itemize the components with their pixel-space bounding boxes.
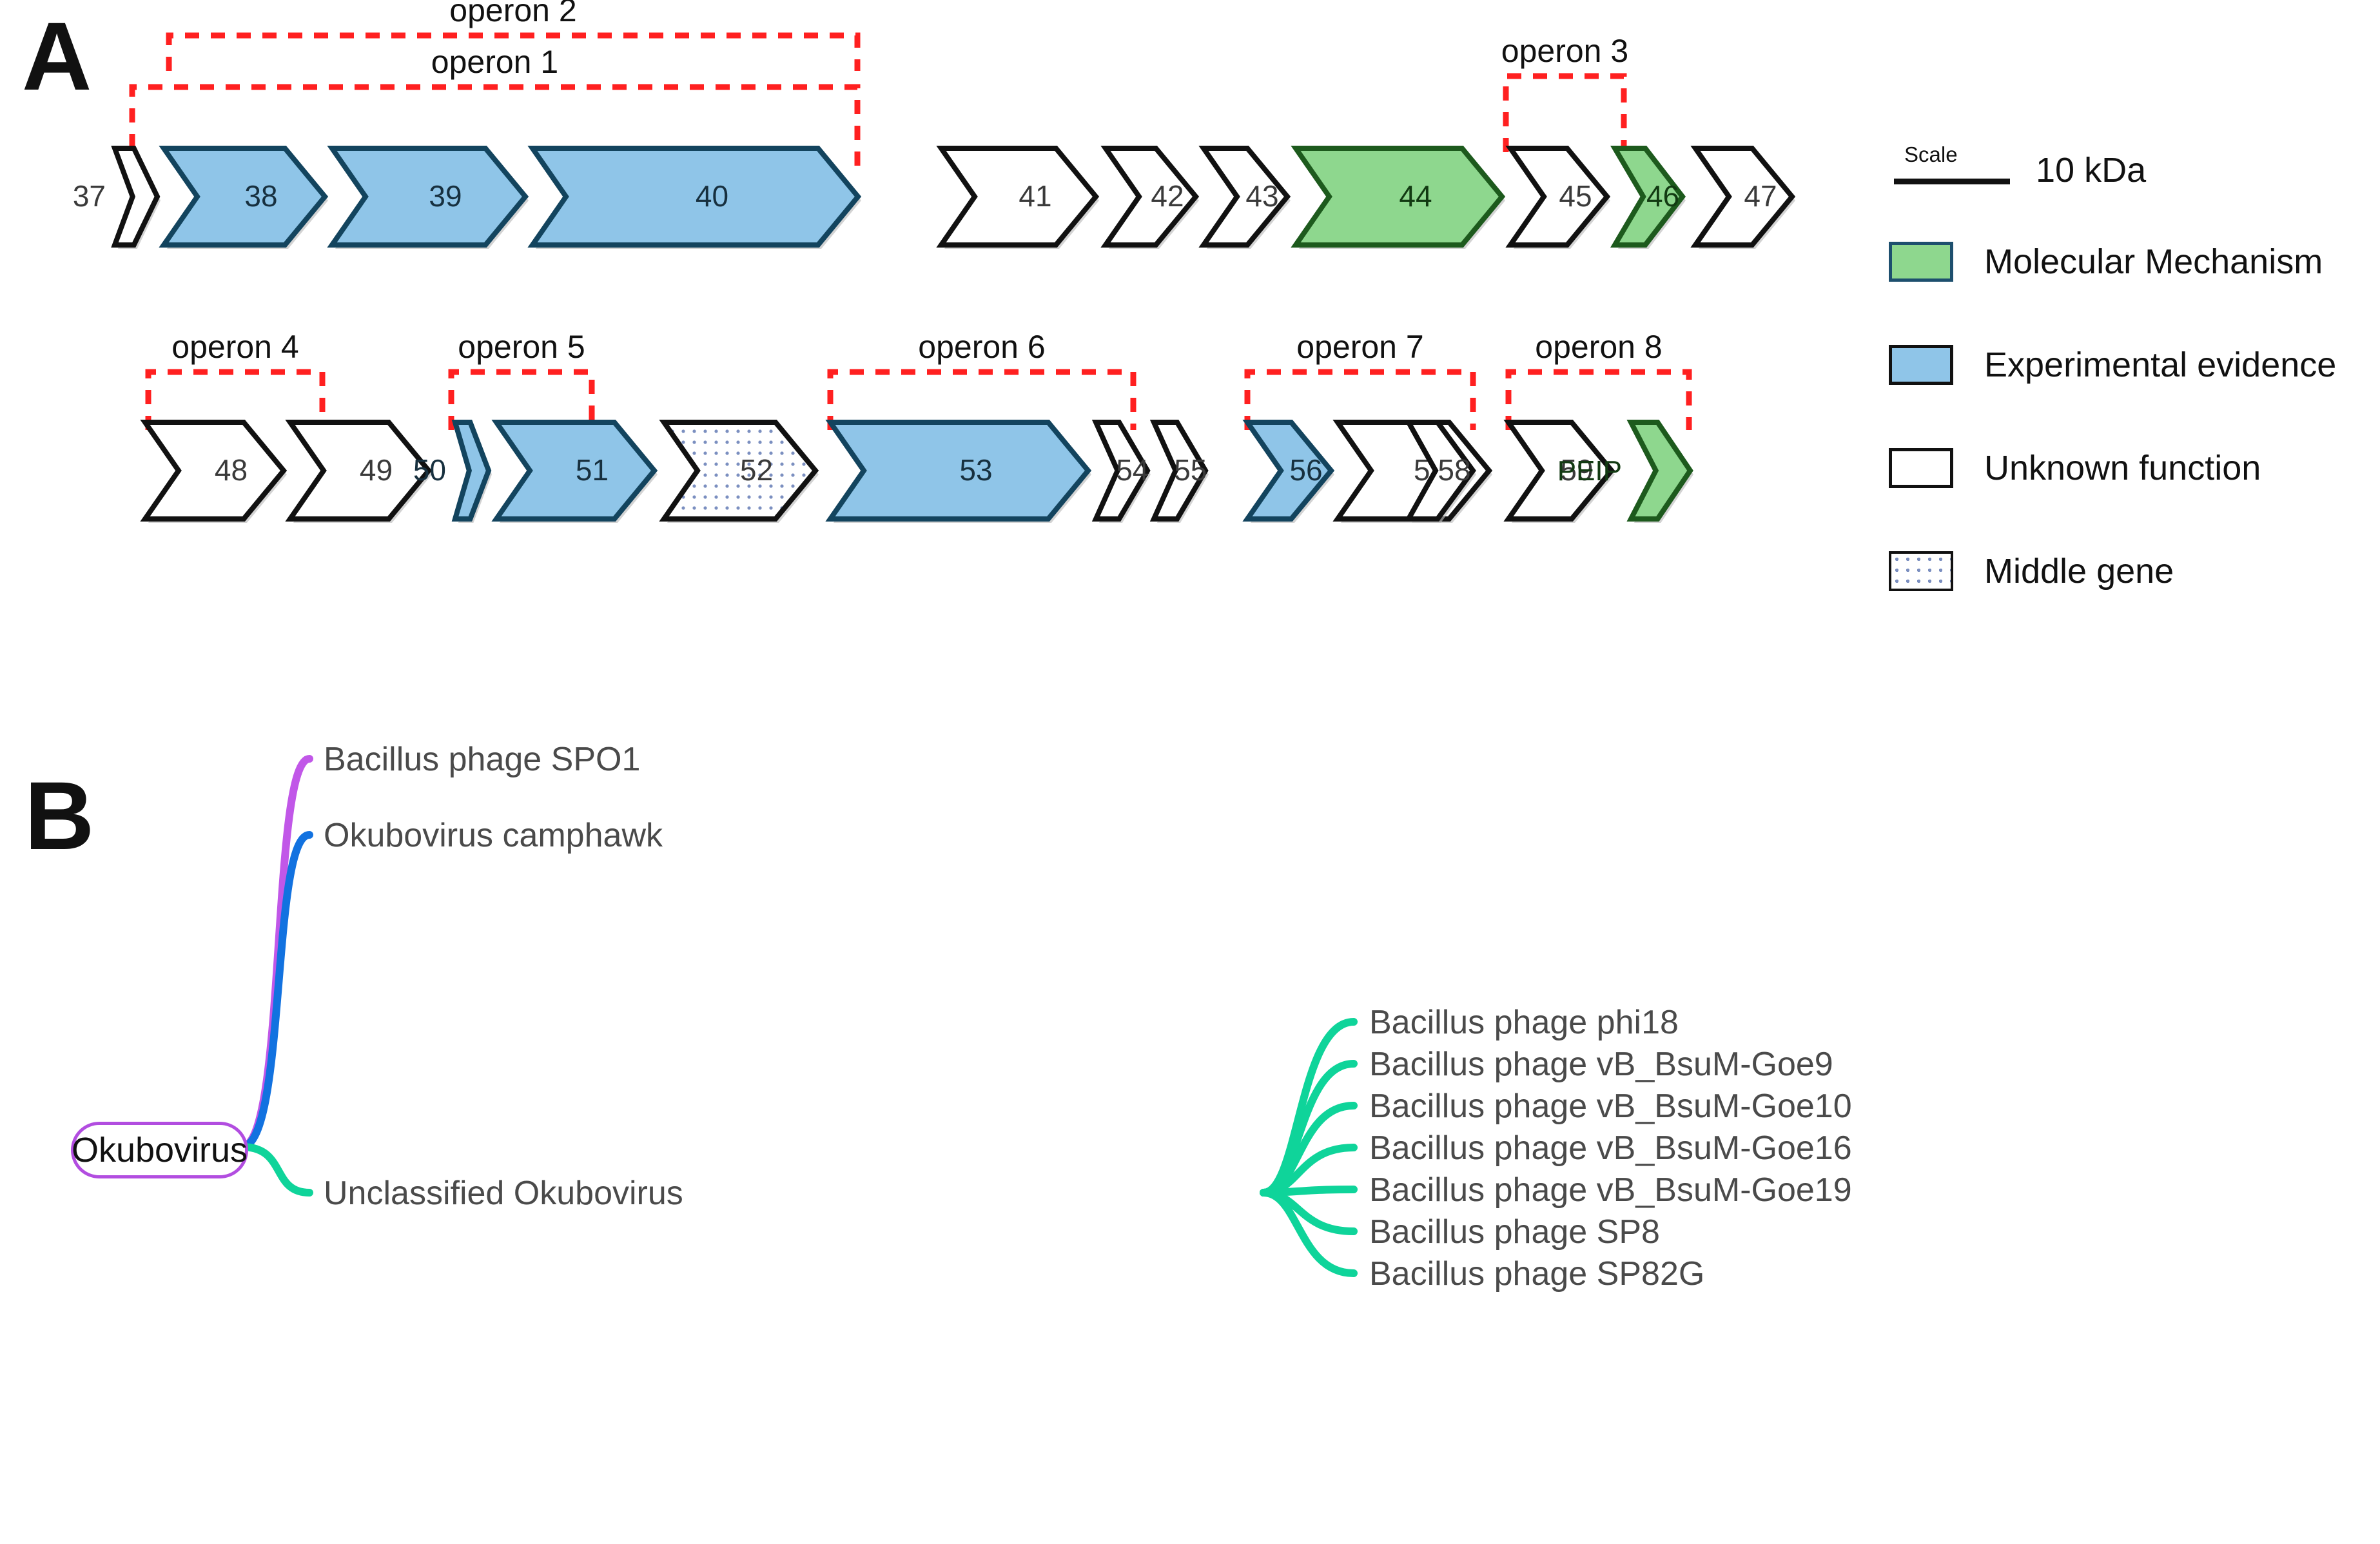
gene-label-54: 54 <box>1116 453 1149 487</box>
tree-leaf-label: Bacillus phage SP8 <box>1369 1213 1660 1251</box>
legend-label-mechanism: Molecular Mechanism <box>1984 242 2323 282</box>
gene-label-38: 38 <box>244 179 277 213</box>
legend-item-experimental: Experimental evidence <box>1889 345 2336 385</box>
operon-bracket <box>1506 76 1624 152</box>
tree-leaf-label: Bacillus phage SP82G <box>1369 1255 1704 1293</box>
gene-label-58: 58 <box>1438 453 1470 487</box>
tree-primary-label: Unclassified Okubovirus <box>324 1175 683 1212</box>
tree-primary-label: Bacillus phage SPO1 <box>324 741 640 778</box>
gene-label-55: 55 <box>1174 453 1207 487</box>
legend-label-experimental: Experimental evidence <box>1984 345 2336 385</box>
gene-label-43: 43 <box>1245 179 1278 213</box>
tree-branch-primary <box>242 1147 309 1193</box>
legend-item-middle-gene: Middle gene <box>1889 551 2174 591</box>
taxonomy-tree-panel: Bacillus phage SPO1Okubovirus camphawkUn… <box>0 722 2380 1541</box>
scale-bar-row: Scale 10 kDa <box>1889 145 2340 203</box>
operon-label: operon 3 <box>1501 33 1628 69</box>
tree-root-label: Okubovirus <box>72 1130 248 1170</box>
tree-leaf-label: Bacillus phage phi18 <box>1369 1004 1679 1041</box>
gene-row-1: operon 1operon 2operon 33738394041424344… <box>73 0 1795 249</box>
gene-label-41: 41 <box>1019 179 1051 213</box>
gene-label-44: 44 <box>1399 179 1432 213</box>
gene-label-56: 56 <box>1289 453 1322 487</box>
legend-item-unknown: Unknown function <box>1889 448 2261 488</box>
operon-label: operon 1 <box>431 44 558 80</box>
gene-arrow-50 <box>455 422 489 519</box>
scale-label: Scale <box>1904 142 1958 167</box>
operon-label: operon 2 <box>449 0 576 28</box>
tree-leaf-label: Bacillus phage vB_BsuM-Goe19 <box>1369 1171 1852 1209</box>
legend-swatch-white <box>1889 448 1953 488</box>
tree-leaf-label: Bacillus phage vB_BsuM-Goe16 <box>1369 1129 1852 1167</box>
gene-label-40: 40 <box>696 179 728 213</box>
tree-root-node[interactable]: Okubovirus <box>71 1122 248 1178</box>
gene-label-50: 50 <box>413 453 446 487</box>
gene-map-panel: operon 1operon 2operon 33738394041424344… <box>0 0 1869 612</box>
scale-bar-line <box>1894 179 2010 184</box>
gene-label-PEIP: PEIP <box>1557 455 1622 487</box>
gene-label-53: 53 <box>959 453 992 487</box>
operon-label: operon 7 <box>1296 329 1423 365</box>
legend-label-unknown: Unknown function <box>1984 448 2261 488</box>
gene-arrow-37 <box>115 148 157 245</box>
legend-label-middle-gene: Middle gene <box>1984 551 2174 591</box>
operon-label: operon 6 <box>918 329 1045 365</box>
tree-branch-primary <box>242 835 309 1147</box>
operon-label: operon 4 <box>171 329 298 365</box>
gene-label-47: 47 <box>1744 179 1777 213</box>
tree-leaf-label: Bacillus phage vB_BsuM-Goe10 <box>1369 1088 1852 1125</box>
scale-value: 10 kDa <box>2036 150 2146 190</box>
gene-label-51: 51 <box>576 453 609 487</box>
gene-label-39: 39 <box>429 179 462 213</box>
operon-label: operon 8 <box>1535 329 1662 365</box>
legend-item-mechanism: Molecular Mechanism <box>1889 242 2323 282</box>
gene-row-2: operon 4operon 5operon 6operon 7operon 8… <box>145 329 1693 523</box>
tree-leaf-label: Bacillus phage vB_BsuM-Goe9 <box>1369 1046 1833 1083</box>
gene-label-49: 49 <box>360 453 393 487</box>
gene-map-svg: operon 1operon 2operon 33738394041424344… <box>0 0 1869 612</box>
tree-primary-label: Okubovirus camphawk <box>324 817 663 854</box>
gene-label-45: 45 <box>1559 179 1592 213</box>
legend-swatch-blue <box>1889 345 1953 385</box>
operon-label: operon 5 <box>458 329 585 365</box>
legend: Scale 10 kDa Molecular Mechanism Experim… <box>1889 145 2366 583</box>
gene-label-52: 52 <box>740 453 773 487</box>
taxonomy-tree-svg: Bacillus phage SPO1Okubovirus camphawkUn… <box>0 722 2380 1541</box>
gene-label-37: 37 <box>73 179 106 213</box>
gene-label-42: 42 <box>1151 179 1184 213</box>
legend-swatch-dotted <box>1889 551 1953 591</box>
gene-arrow-PEIP <box>1631 422 1690 519</box>
legend-swatch-green <box>1889 242 1953 282</box>
gene-label-48: 48 <box>215 453 248 487</box>
tree-branch-primary <box>242 759 309 1147</box>
gene-label-46: 46 <box>1646 179 1679 213</box>
